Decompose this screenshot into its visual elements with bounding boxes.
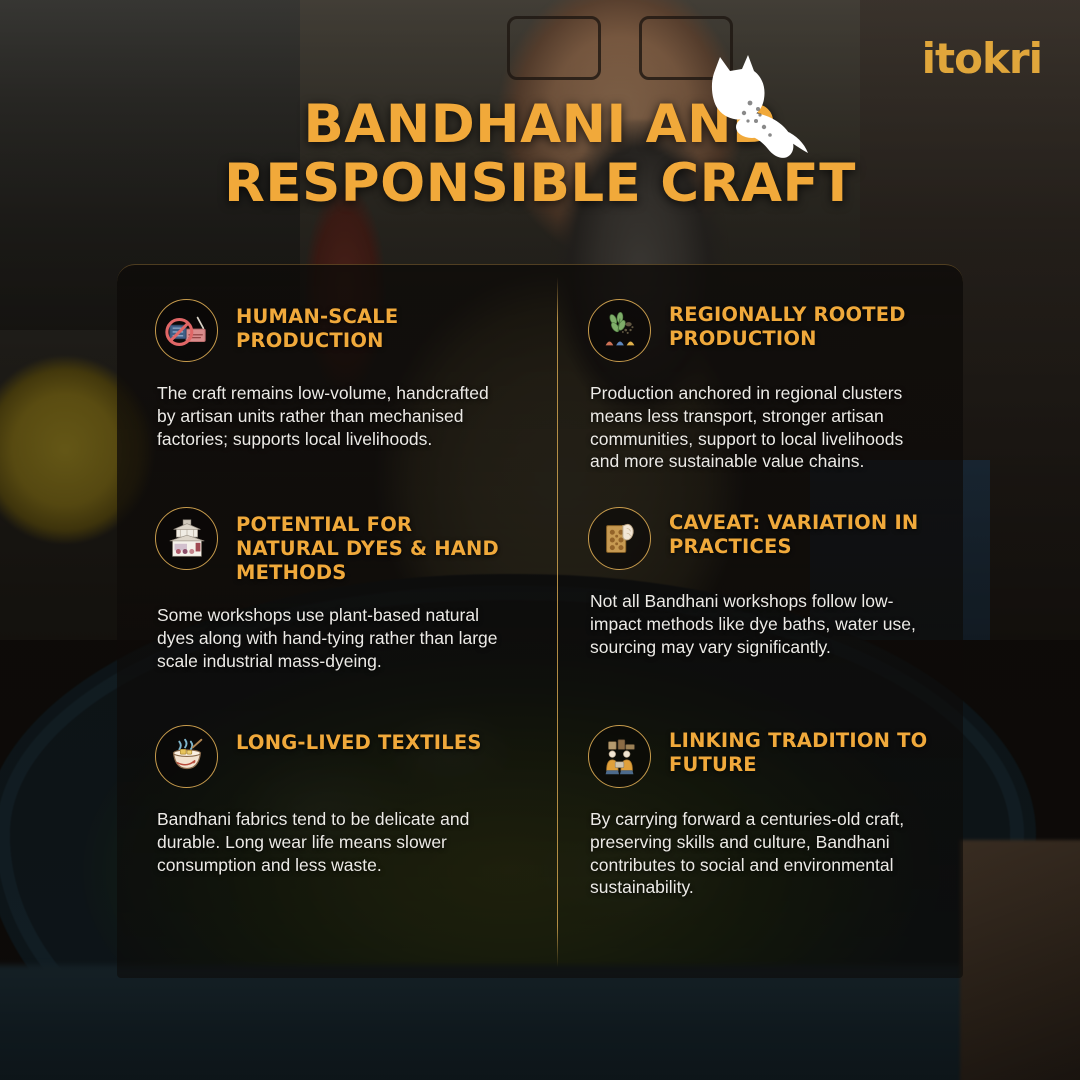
page-title: BANDHANI AND RESPONSIBLE CRAFT — [0, 95, 1080, 214]
feature-item-long-lived-textiles: LONG-LIVED TEXTILES Bandhani fabrics ten… — [155, 723, 510, 876]
cat-silhouette-icon — [690, 55, 810, 165]
hand-holding-bandhani-fabric-icon — [588, 507, 651, 570]
feature-title: POTENTIAL FOR NATURAL DYES & HAND METHOD… — [236, 513, 510, 584]
feature-item-caveat-variation-in-practices: CAVEAT: VARIATION IN PRACTICES Not all B… — [588, 505, 935, 715]
feature-body: Not all Bandhani workshops follow low-im… — [590, 590, 935, 658]
feature-item-natural-dyes-hand-methods: POTENTIAL FOR NATURAL DYES & HAND METHOD… — [155, 505, 510, 715]
title-block: BANDHANI AND RESPONSIBLE CRAFT — [0, 95, 1080, 214]
feature-title: LINKING TRADITION TO FUTURE — [669, 729, 935, 777]
right-column: REGIONALLY ROOTED PRODUCTION Production … — [540, 297, 963, 978]
feature-title: CAVEAT: VARIATION IN PRACTICES — [669, 511, 935, 559]
brand-logo-text: itokri — [922, 38, 1042, 80]
feature-title: LONG-LIVED TEXTILES — [236, 731, 482, 755]
feature-item-human-scale-production: HUMAN-SCALE PRODUCTION The craft remains… — [155, 297, 510, 497]
plant-dyes-pigments-icon — [588, 299, 651, 362]
two-artisans-working-icon — [588, 725, 651, 788]
steaming-dye-pot-icon — [155, 725, 218, 788]
feature-title: HUMAN-SCALE PRODUCTION — [236, 305, 510, 353]
no-factory-machine-icon — [155, 299, 218, 362]
feature-body: By carrying forward a centuries-old craf… — [590, 808, 935, 899]
feature-title: REGIONALLY ROOTED PRODUCTION — [669, 303, 935, 351]
left-column: HUMAN-SCALE PRODUCTION The craft remains… — [117, 297, 540, 978]
feature-item-linking-tradition-to-future: LINKING TRADITION TO FUTURE By carrying … — [588, 723, 935, 899]
workshop-building-icon — [155, 507, 218, 570]
feature-body: Some workshops use plant-based natural d… — [157, 604, 510, 672]
infographic-canvas: itokri BANDHANI AND RESPONSIBLE CRAFT — [0, 0, 1080, 1080]
feature-body: The craft remains low-volume, handcrafte… — [157, 382, 510, 450]
brand-logo[interactable]: itokri — [922, 38, 1042, 80]
content-panel: HUMAN-SCALE PRODUCTION The craft remains… — [117, 264, 963, 978]
feature-item-regionally-rooted-production: REGIONALLY ROOTED PRODUCTION Production … — [588, 297, 935, 497]
feature-body: Production anchored in regional clusters… — [590, 382, 935, 473]
feature-body: Bandhani fabrics tend to be delicate and… — [157, 808, 510, 876]
